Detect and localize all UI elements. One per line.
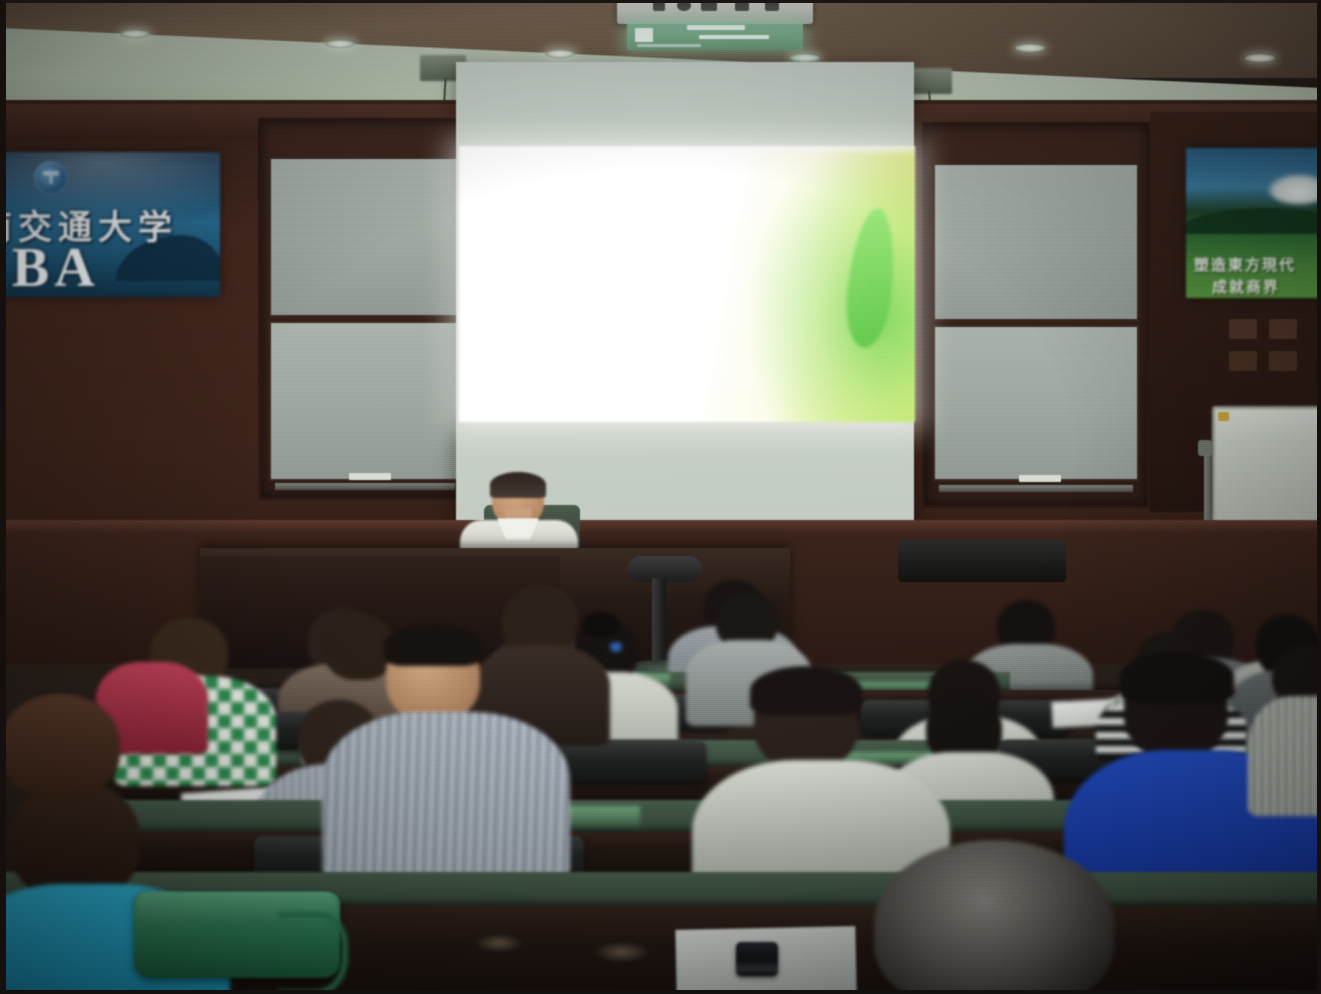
banner-university-mba: 南交通大学 MBA [0,152,220,297]
slide-top-glow [459,146,915,156]
wall-switch-plate [1268,318,1298,340]
ceiling-downlight-icon [325,40,355,48]
cloud-icon [1268,174,1321,204]
mobile-phone [736,942,778,976]
projector-lens-glow [627,22,803,50]
cable-grommet [476,934,522,952]
banner-green-landscape: 塑造東方現代 成就商界 [1186,148,1321,298]
stool-post [652,578,666,666]
whiteboard-panel-left [258,118,472,500]
ceiling-downlight-icon [1245,54,1275,62]
wall-switch-plate [1228,350,1258,372]
banner-right-line2: 成就商界 [1212,276,1280,297]
ceiling-downlight-icon [1015,44,1045,52]
projector-icon [617,0,813,24]
speaker-cabinet [898,540,1066,582]
wall-switch-plate [1228,318,1258,340]
easel-knob [1198,440,1212,456]
leaf-graphic-icon [842,206,900,350]
projected-slide [459,146,915,422]
whiteboard-panel-right [922,122,1150,508]
banner-left-latin-text: MBA [0,236,214,297]
banner-ridge-shape [1186,208,1321,234]
banner-right-line1: 塑造東方現代 [1194,254,1296,275]
ceiling-downlight-icon [545,50,575,58]
university-crest-icon [34,161,68,195]
flipchart-clip-icon [1218,412,1229,421]
presenter-hair [490,472,546,498]
ceiling-downlight-icon [790,54,820,62]
lecture-hall-photo: 南交通大学 MBA 塑造東方現代 成就商界 [0,0,1321,994]
handbag-strap [278,912,348,994]
wall-switch-plate [1268,350,1298,372]
cable-grommet [596,942,648,962]
ceiling-downlight-icon [120,30,150,38]
